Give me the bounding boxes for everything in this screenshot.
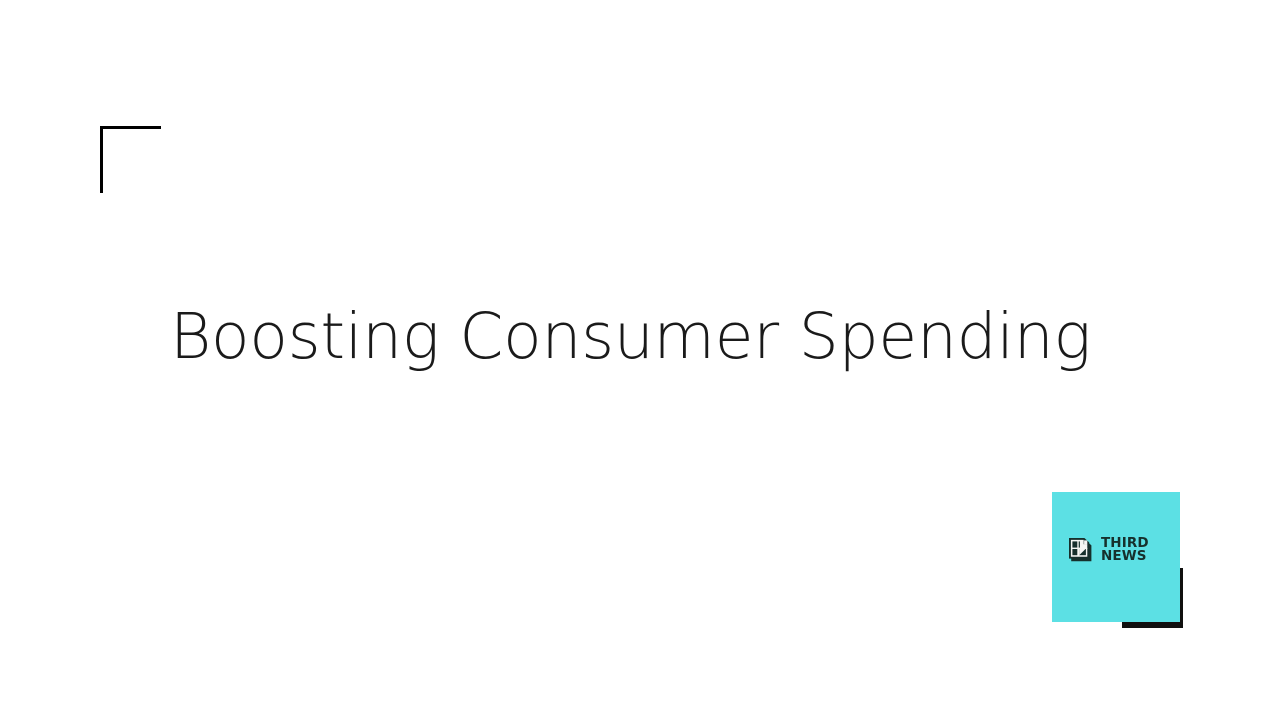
- corner-bracket-decoration: [100, 126, 161, 193]
- page-title: Boosting Consumer Spending: [170, 300, 1110, 373]
- logo-lockup: THIRD NEWS: [1068, 536, 1149, 564]
- logo-wordmark: THIRD NEWS: [1101, 537, 1149, 564]
- newspaper-icon: [1068, 536, 1094, 564]
- logo-shadow-bottom-accent: [1122, 622, 1182, 628]
- logo-shadow-right-accent: [1180, 568, 1183, 628]
- logo-wordmark-line-2: NEWS: [1101, 550, 1149, 564]
- brand-logo: THIRD NEWS: [1052, 492, 1180, 622]
- presentation-slide: Boosting Consumer Spending: [0, 0, 1280, 720]
